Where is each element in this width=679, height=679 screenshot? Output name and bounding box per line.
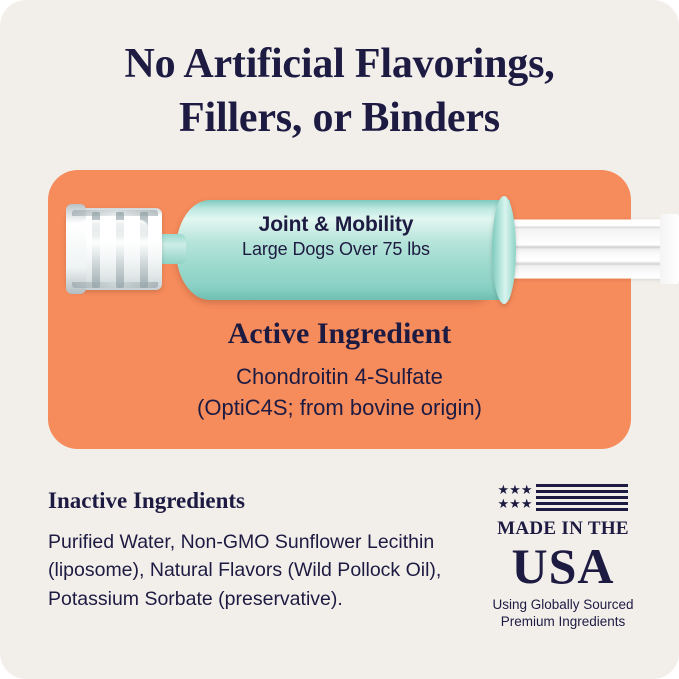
active-ingredient-heading: Active Ingredient xyxy=(48,316,631,352)
made-in-usa-badge: ★★★ ★★★ MADE IN THE USA Using Globally S… xyxy=(488,482,638,630)
product-infographic-card: No Artificial Flavorings, Fillers, or Bi… xyxy=(0,0,679,679)
syringe-plunger-end xyxy=(660,214,679,284)
page-title: No Artificial Flavorings, Fillers, or Bi… xyxy=(0,38,679,146)
flag-stripe xyxy=(536,484,628,487)
usa-badge-subtext: Using Globally Sourced Premium Ingredien… xyxy=(488,596,638,631)
flag-stars-row-2: ★★★ xyxy=(498,498,533,510)
flag-stars-row-1: ★★★ xyxy=(498,484,533,496)
flag-stripes xyxy=(536,482,628,512)
flag-stripe xyxy=(536,496,628,499)
inactive-ingredients-section: Inactive Ingredients Purified Water, Non… xyxy=(48,487,458,613)
flag-icon: ★★★ ★★★ xyxy=(488,482,638,512)
active-ingredient-section: Active Ingredient Chondroitin 4-Sulfate … xyxy=(48,316,631,423)
active-ingredient-line-2: (OptiC4S; from bovine origin) xyxy=(48,392,631,423)
made-in-the-text: MADE IN THE xyxy=(488,519,638,540)
active-ingredient-body: Chondroitin 4-Sulfate (OptiC4S; from bov… xyxy=(48,361,631,423)
active-ingredient-line-1: Chondroitin 4-Sulfate xyxy=(48,361,631,392)
flag-stars: ★★★ ★★★ xyxy=(498,482,533,512)
flag-stripe xyxy=(536,502,628,505)
headline-line-1: No Artificial Flavorings, xyxy=(0,38,679,92)
usa-badge-subtext-line-2: Premium Ingredients xyxy=(488,613,638,630)
headline-line-2: Fillers, or Binders xyxy=(0,92,679,146)
usa-badge-subtext-line-1: Using Globally Sourced xyxy=(488,596,638,613)
flag-stripe xyxy=(536,508,628,511)
flag-stripe xyxy=(536,490,628,493)
usa-text: USA xyxy=(488,541,638,592)
inactive-ingredients-body: Purified Water, Non-GMO Sunflower Lecith… xyxy=(48,528,458,613)
inactive-ingredients-heading: Inactive Ingredients xyxy=(48,487,458,515)
